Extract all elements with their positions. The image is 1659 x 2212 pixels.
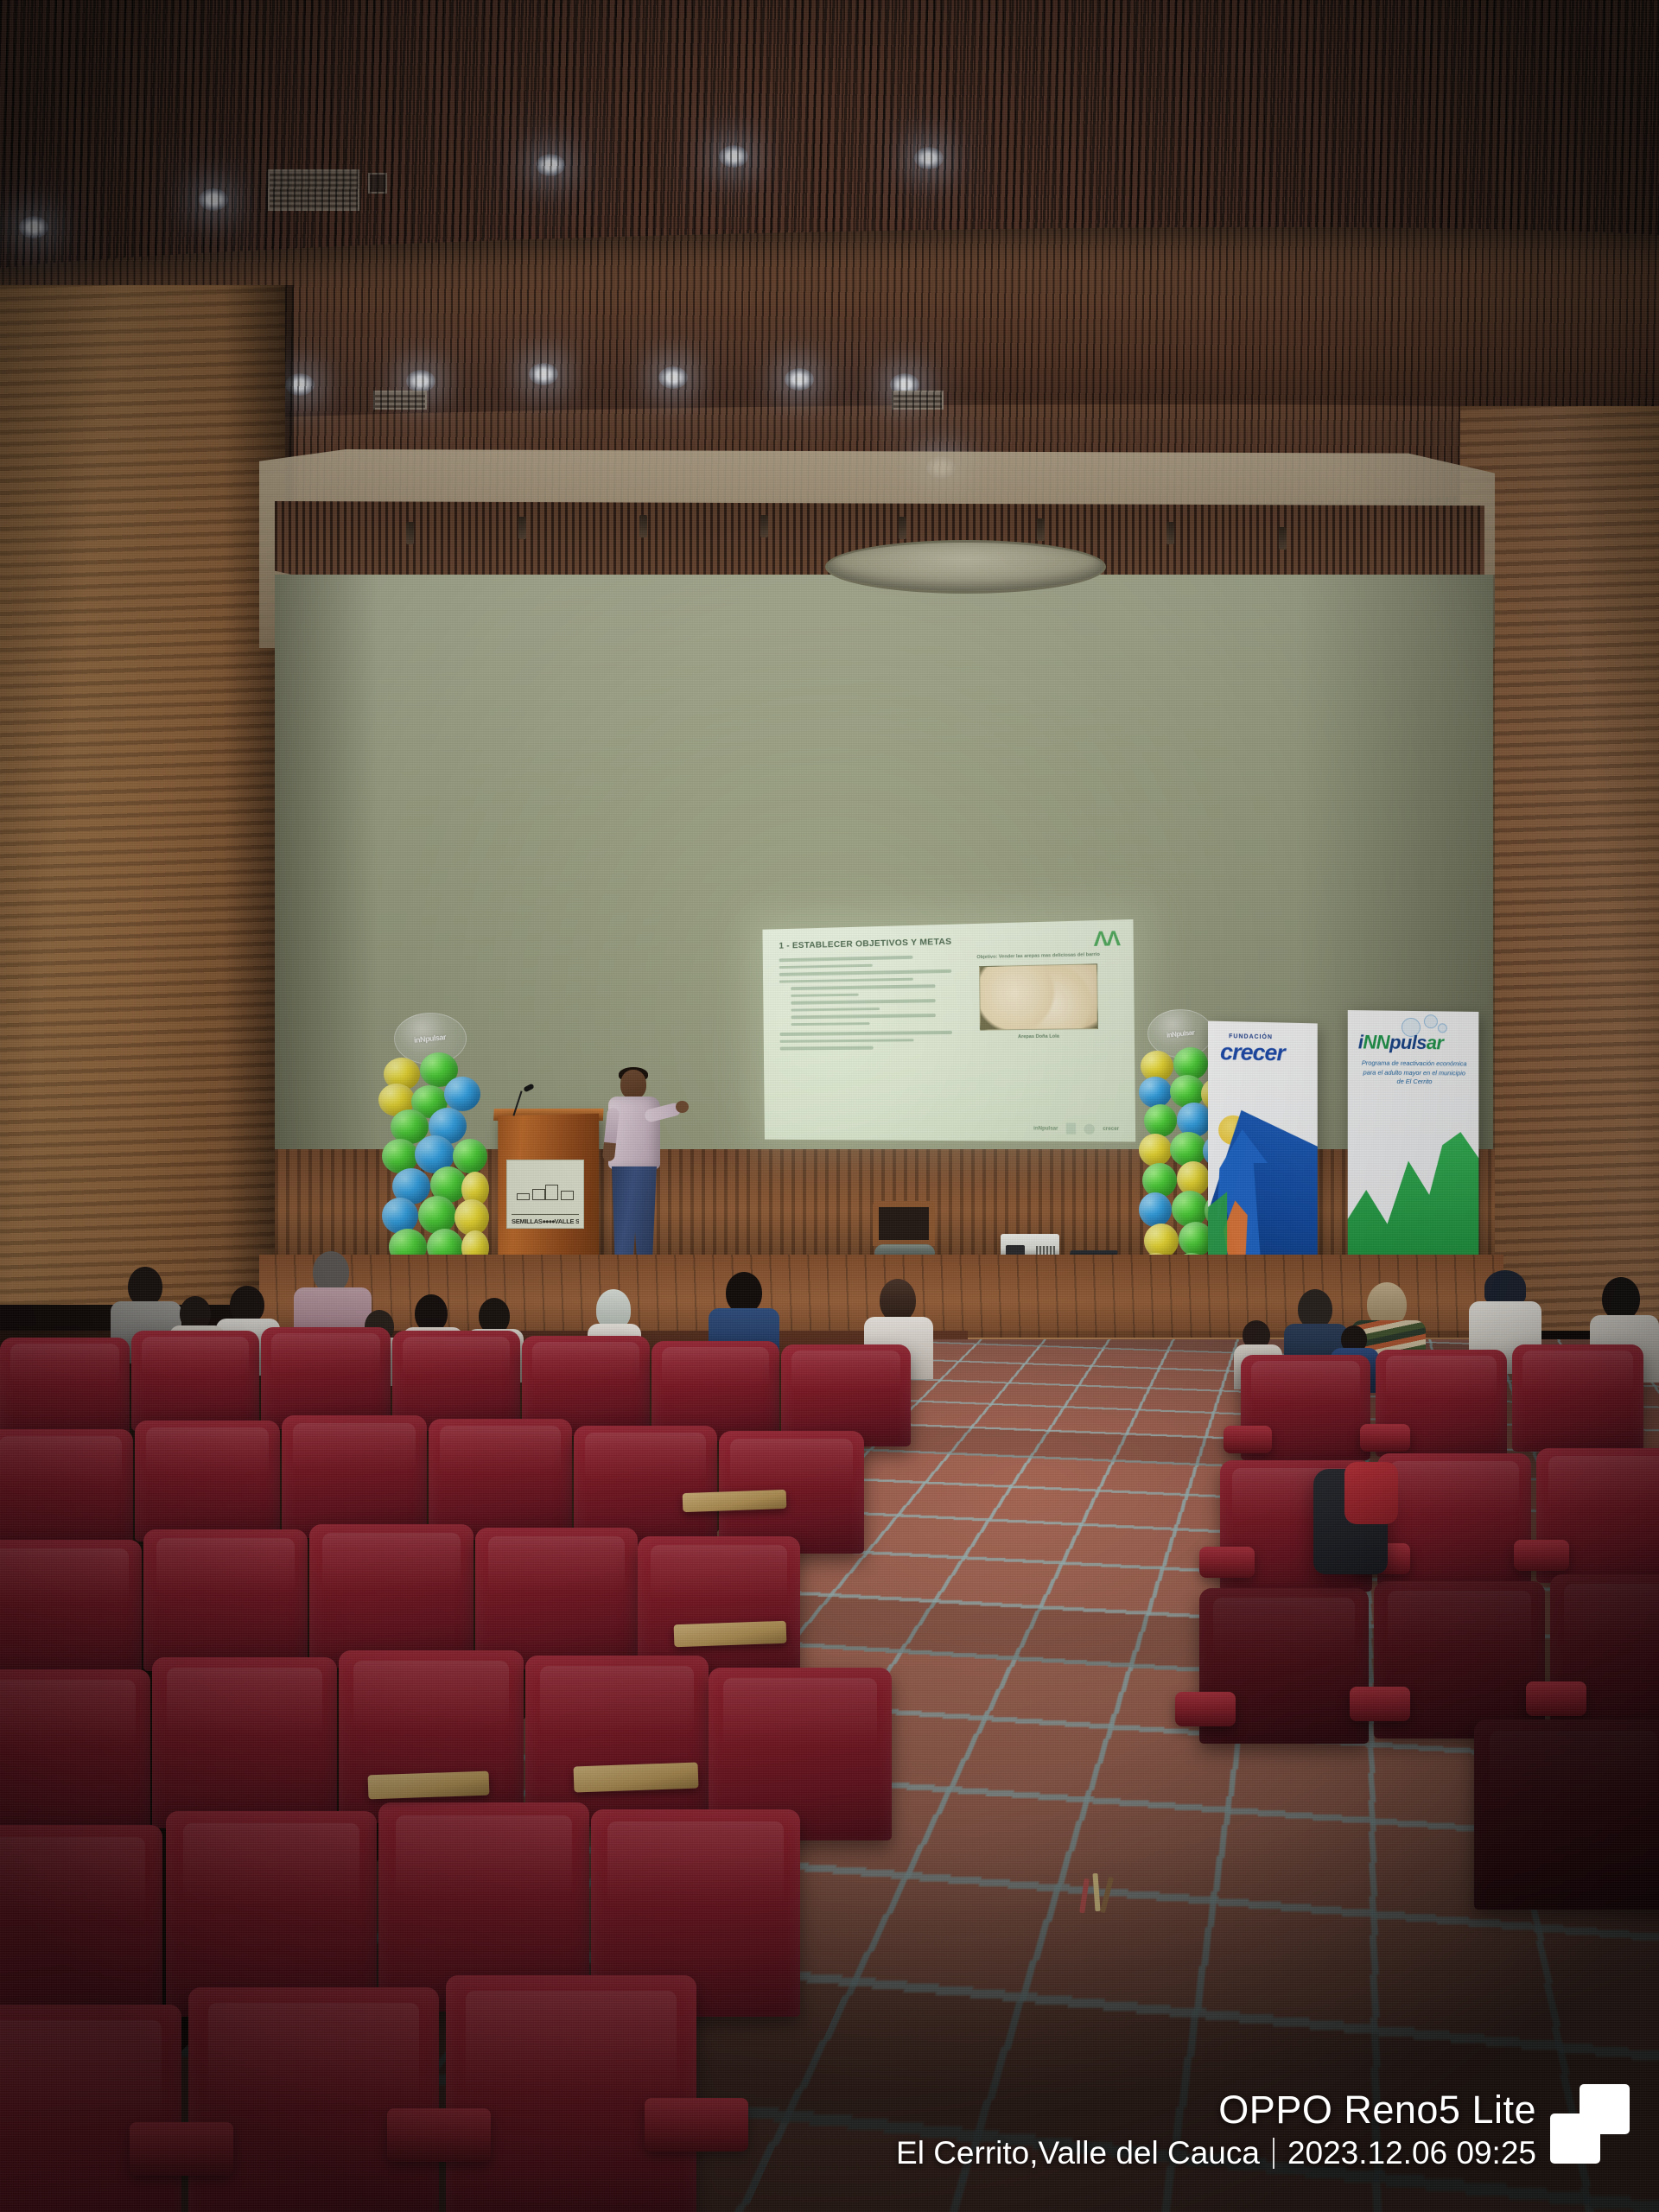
auditorium-seat — [282, 1415, 427, 1538]
watermark-device-model: OPPO Reno5 Lite — [896, 2087, 1536, 2133]
slide-footer-crecer: crecer — [1103, 1126, 1119, 1131]
logo-square-front — [1550, 2113, 1600, 2164]
ceiling-light — [658, 366, 688, 389]
audience-head — [313, 1251, 349, 1293]
auditorium-seat — [1474, 1719, 1659, 1910]
photo-canvas: ΛɅ 1 - ESTABLECER OBJETIVOS Y METAS — [0, 0, 1659, 2212]
ceiling-light — [199, 188, 228, 211]
seat-armrest — [645, 2098, 748, 2152]
auditorium-seat — [188, 1987, 439, 2212]
logo-part-puls: puls — [1389, 1032, 1427, 1053]
auditorium-seat — [446, 1975, 696, 2212]
hvac-vent-icon — [268, 169, 359, 211]
municipality-seal-icon — [1066, 1123, 1077, 1135]
logo-part-ar: ar — [1427, 1032, 1443, 1053]
hvac-vent-icon — [892, 391, 944, 410]
hvac-vent-small-icon — [368, 173, 387, 194]
auditorium-seat — [261, 1327, 391, 1429]
pencil-icon — [1079, 1878, 1090, 1913]
audience-head — [726, 1272, 762, 1313]
stage-track-light — [406, 522, 414, 544]
seat-armrest — [1350, 1687, 1410, 1721]
ceiling-light — [406, 370, 435, 392]
audience-head — [880, 1279, 916, 1322]
hvac-vent-icon — [373, 391, 427, 410]
balloon-topper-label: inNpulsar — [1166, 1028, 1194, 1039]
banner-innpulsar: iNNpulsar Programa de reactivación econó… — [1348, 1010, 1479, 1287]
pencils-in-seat-pocket — [1080, 1873, 1116, 1911]
banner-bubble-icon — [1424, 1014, 1438, 1028]
seat-tablet-arm — [574, 1762, 699, 1792]
watermark-meta-row: El Cerrito,Valle del Cauca 2023.12.06 09… — [896, 2134, 1536, 2172]
audience-cap-icon — [1484, 1270, 1526, 1305]
logo-part-nn: NN — [1363, 1031, 1389, 1052]
seat-tablet-arm — [683, 1490, 787, 1512]
slide-caption-bottom: Arepas Doña Lola — [963, 1033, 1116, 1040]
ceiling-light — [19, 216, 48, 238]
slide-image-column: Objetivo: Vender las arepas mas delicios… — [962, 950, 1116, 1052]
watermark-location: El Cerrito,Valle del Cauca — [896, 2134, 1260, 2172]
auditorium-seat — [339, 1650, 524, 1823]
stage-track-light — [639, 515, 647, 537]
backpack-red-panel — [1344, 1462, 1398, 1524]
auditorium-seat — [0, 1540, 142, 1680]
stage-track-light — [760, 515, 768, 537]
banner-innpulsar-mountain-graphic — [1348, 1132, 1479, 1264]
presenter-head — [620, 1070, 646, 1099]
watermark-datetime: 2023.12.06 09:25 — [1287, 2134, 1536, 2172]
auditorium-seat — [429, 1419, 572, 1540]
auditorium-seat — [475, 1528, 638, 1669]
auditorium-seat — [0, 1669, 150, 1839]
auditorium-seat — [131, 1331, 259, 1431]
stage-track-light — [899, 517, 906, 539]
slide-columns: Objetivo: Vender las arepas mas delicios… — [779, 950, 1121, 1054]
seat-armrest — [1514, 1540, 1569, 1571]
seat-armrest — [1360, 1424, 1410, 1452]
watermark-separator-icon — [1273, 2138, 1274, 2169]
auditorium-seat — [0, 1825, 162, 2029]
auditorium-seat — [0, 1429, 133, 1550]
slide-footer-logos: inNpulsar crecer — [1033, 1122, 1119, 1135]
slide-arepas-photo — [979, 964, 1098, 1031]
seat-armrest — [130, 2122, 233, 2176]
pencil-icon — [1100, 1877, 1114, 1913]
banner-crecer: FUNDACIÓN crecer fundacrecer.com.co — [1208, 1021, 1318, 1276]
podium-sponsor-sign: SEMILLAS●●●●VALLE S.A. — [506, 1160, 584, 1229]
auditorium-seat — [309, 1524, 474, 1668]
seat-tablet-arm — [674, 1621, 787, 1648]
secondary-seal-icon — [1084, 1123, 1095, 1134]
camera-watermark: OPPO Reno5 Lite El Cerrito,Valle del Cau… — [896, 2087, 1536, 2172]
slide-title: 1 - ESTABLECER OBJETIVOS Y METAS — [779, 932, 1119, 951]
seat-armrest — [1199, 1547, 1255, 1578]
auditorium-seat — [0, 2005, 181, 2212]
seat-armrest — [1175, 1692, 1236, 1726]
banner-innpulsar-subtitle: Programa de reactivación económica para … — [1360, 1059, 1469, 1087]
ceiling-light — [536, 154, 565, 176]
podium-sign-brand: SEMILLAS — [512, 1217, 543, 1225]
podium-sign-text: SEMILLAS●●●●VALLE S.A. — [512, 1214, 579, 1225]
pencil-icon — [1092, 1873, 1100, 1911]
stage-track-light — [518, 517, 526, 539]
stage-track-light — [1037, 518, 1045, 541]
banner-innpulsar-wordmark: iNNpulsar — [1358, 1033, 1444, 1052]
ceiling-light — [529, 363, 558, 385]
banner-crecer-wordmark: crecer — [1220, 1040, 1285, 1065]
seat-armrest — [1526, 1681, 1586, 1716]
podium-sign-dots: ●●●● — [543, 1217, 555, 1225]
auditorium-seat — [525, 1656, 709, 1827]
stage-track-light — [1166, 522, 1174, 544]
seat-armrest — [1224, 1426, 1272, 1453]
seat-armrest — [387, 2108, 491, 2162]
slide-caption-top: Objetivo: Vender las arepas mas delicios… — [962, 950, 1116, 961]
auditorium-seat — [166, 1811, 377, 2017]
slide-footer-innpulsar: inNpulsar — [1033, 1126, 1058, 1131]
stage-track-light — [1279, 527, 1287, 550]
stacked-blocks-logo-icon — [512, 1166, 579, 1200]
auditorium-seat — [135, 1421, 280, 1541]
auditorium-seat — [1512, 1344, 1643, 1452]
seat-tablet-arm — [368, 1771, 490, 1800]
balloon-topper-label: inNpulsar — [414, 1033, 447, 1045]
audience-head — [1602, 1277, 1640, 1320]
auditorium-seat — [143, 1529, 308, 1671]
projection-screen: ΛɅ 1 - ESTABLECER OBJETIVOS Y METAS — [762, 919, 1135, 1142]
slide-body-text — [779, 955, 952, 1054]
oppo-shoton-squares-icon — [1550, 2084, 1630, 2164]
oval-ceiling-fixture — [825, 540, 1106, 594]
auditorium-seat — [0, 1338, 130, 1440]
chair-back — [873, 1201, 935, 1246]
ceiling-light — [914, 147, 944, 169]
ceiling-light — [719, 145, 748, 168]
ceiling-light — [785, 368, 814, 391]
presenter-right-hand — [676, 1101, 689, 1113]
auditorium-seat — [152, 1657, 337, 1828]
podium-sign-suffix: VALLE S.A. — [555, 1217, 579, 1225]
